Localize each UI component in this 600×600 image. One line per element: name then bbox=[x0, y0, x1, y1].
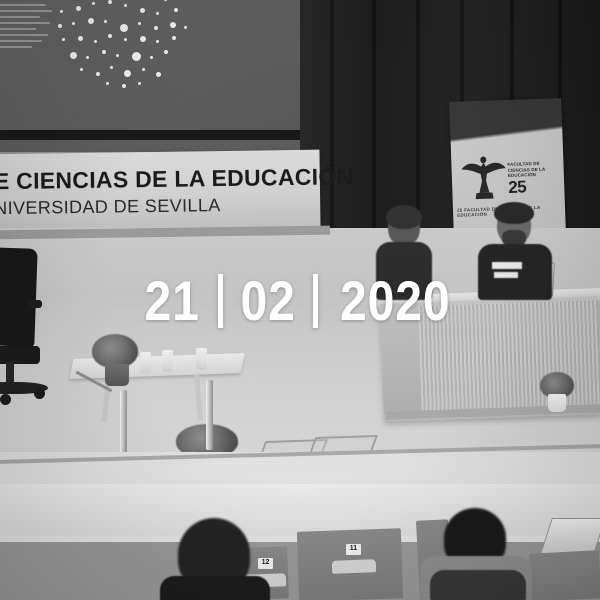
seat-number-label: 11 bbox=[346, 544, 361, 555]
audience-riser-wall bbox=[0, 484, 600, 536]
water-glass bbox=[140, 352, 151, 374]
screen-frame bbox=[0, 130, 302, 140]
wall-sign-line-2: NIVERSIDAD DE SEVILLA bbox=[0, 195, 221, 219]
projection-screen bbox=[0, 0, 302, 132]
photograph-canvas: E CIENCIAS DE LA EDUCACIÓN NIVERSIDAD DE… bbox=[0, 0, 600, 600]
wall-sign: E CIENCIAS DE LA EDUCACIÓN NIVERSIDAD DE… bbox=[0, 150, 321, 233]
seat-number-label: 12 bbox=[258, 558, 273, 569]
water-glass bbox=[196, 348, 207, 370]
banner-heading: FACULTAD DE CIENCIAS DE LA EDUCACIÓN bbox=[507, 160, 562, 178]
seat-tablet-arm bbox=[540, 518, 600, 554]
wall-sign-line-1: E CIENCIAS DE LA EDUCACIÓN bbox=[0, 163, 354, 195]
microphone-stand bbox=[206, 380, 213, 450]
audience-seat-back bbox=[529, 550, 600, 600]
dot-cloud-graphic bbox=[52, 0, 212, 90]
winged-figure-icon bbox=[461, 154, 507, 202]
banner-anniversary-number: 25 bbox=[508, 177, 527, 198]
slide-text-lines bbox=[0, 0, 58, 82]
water-glass bbox=[162, 350, 173, 372]
seat-tablet-hinge bbox=[332, 559, 376, 574]
